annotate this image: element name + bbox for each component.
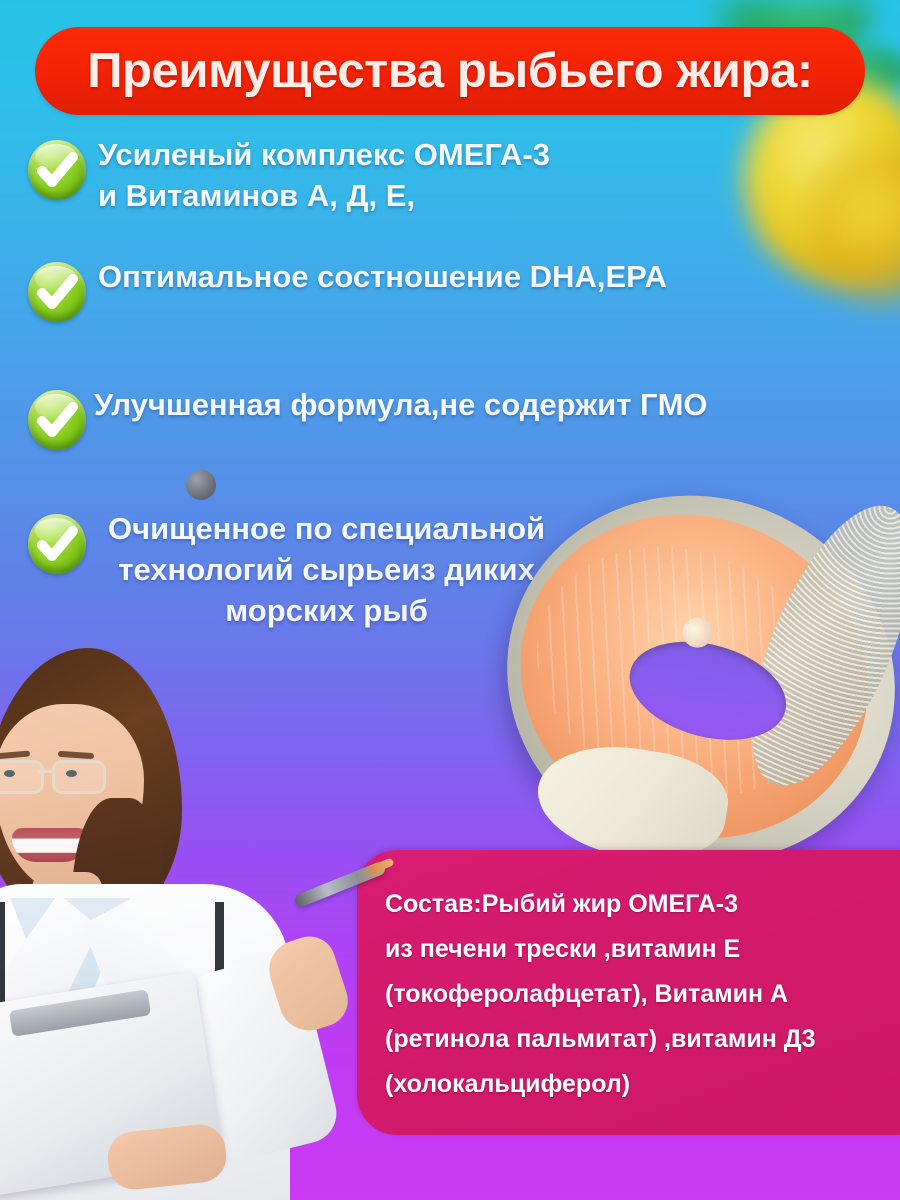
list-item-label: Усиленый комплекс ОМЕГА-3 и Витаминов А,… xyxy=(98,134,550,216)
check-circle-icon xyxy=(28,514,86,574)
poster: Преимущества рыбьего жира: Усиленый комп… xyxy=(0,0,900,1200)
list-item: Улучшенная формула,не содержит ГМО xyxy=(28,322,900,450)
title-banner: Преимущества рыбьего жира: xyxy=(35,27,865,115)
list-item: Оптимальное состношение DHA,EPA xyxy=(28,216,900,322)
check-circle-icon xyxy=(28,140,86,200)
doctor-glasses-icon xyxy=(0,760,106,790)
composition-text: Состав:Рыбий жир ОМЕГА-3 из печени треск… xyxy=(385,882,885,1107)
check-circle-icon xyxy=(28,262,86,322)
page-title: Преимущества рыбьего жира: xyxy=(87,43,813,99)
composition-card: Состав:Рыбий жир ОМЕГА-3 из печени треск… xyxy=(357,850,900,1135)
list-item-label: Оптимальное состношение DHA,EPA xyxy=(98,256,667,297)
list-item: Усиленый комплекс ОМЕГА-3 и Витаминов А,… xyxy=(28,126,900,216)
check-circle-icon xyxy=(28,390,86,450)
stethoscope-bell xyxy=(186,470,216,500)
list-item-label: Улучшенная формула,не содержит ГМО xyxy=(94,384,708,425)
